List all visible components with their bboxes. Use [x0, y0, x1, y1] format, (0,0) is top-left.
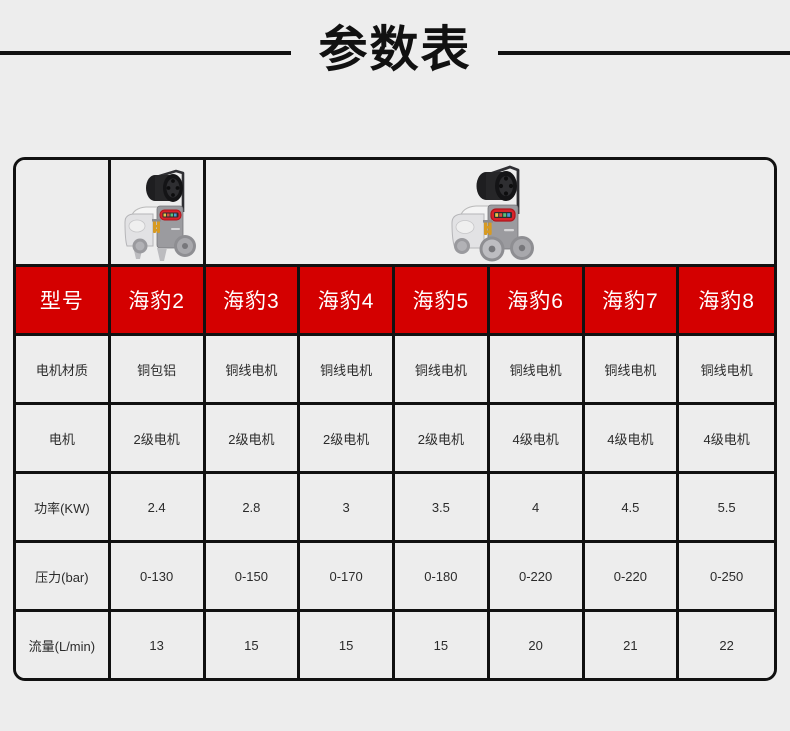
header-cell-seal-8: 海豹8	[679, 267, 774, 336]
cell-power-seal-3: 2.8	[206, 474, 301, 543]
cell-motor-seal-8: 4级电机	[679, 405, 774, 474]
cell-flow-seal-5: 15	[395, 612, 490, 678]
cell-power-seal-2: 2.4	[111, 474, 206, 543]
cell-pressure-seal-4: 0-170	[300, 543, 395, 612]
page-title: 参数表	[0, 14, 790, 86]
cell-power-seal-4: 3	[300, 474, 395, 543]
product-photo-seal-3-to-8-cell	[206, 160, 775, 267]
cell-flow-seal-4: 15	[300, 612, 395, 678]
row-label-power: 功率(KW)	[16, 474, 111, 543]
title-rule-right	[498, 51, 790, 55]
header-cell-seal-7: 海豹7	[585, 267, 680, 336]
cell-pressure-seal-3: 0-150	[206, 543, 301, 612]
header-cell-seal-2: 海豹2	[111, 267, 206, 336]
cell-flow-seal-6: 20	[490, 612, 585, 678]
cell-flow-seal-3: 15	[206, 612, 301, 678]
cell-motor-seal-4: 2级电机	[300, 405, 395, 474]
table-row-motor: 电机 2级电机 2级电机 2级电机 2级电机 4级电机 4级电机 4级电机	[16, 405, 774, 474]
pressure-washer-machine-icon	[113, 164, 201, 264]
header-cell-seal-4: 海豹4	[300, 267, 395, 336]
cell-flow-seal-8: 22	[679, 612, 774, 678]
row-label-motor: 电机	[16, 405, 111, 474]
row-label-motor-material: 电机材质	[16, 336, 111, 405]
cell-power-seal-7: 4.5	[585, 474, 680, 543]
table-row-motor-material: 电机材质 铜包铝 铜线电机 铜线电机 铜线电机 铜线电机 铜线电机 铜线电机	[16, 336, 774, 405]
cell-motor-material-seal-8: 铜线电机	[679, 336, 774, 405]
row-label-pressure: 压力(bar)	[16, 543, 111, 612]
table-row-power: 功率(KW) 2.4 2.8 3 3.5 4 4.5 5.5	[16, 474, 774, 543]
cell-motor-seal-5: 2级电机	[395, 405, 490, 474]
cell-motor-material-seal-3: 铜线电机	[206, 336, 301, 405]
row-label-flow: 流量(L/min)	[16, 612, 111, 678]
cell-motor-seal-7: 4级电机	[585, 405, 680, 474]
cell-motor-material-seal-6: 铜线电机	[490, 336, 585, 405]
cell-motor-seal-6: 4级电机	[490, 405, 585, 474]
specification-table: 型号 海豹2 海豹3 海豹4 海豹5 海豹6 海豹7 海豹8 电机材质 铜包铝 …	[13, 157, 777, 681]
header-cell-model-label: 型号	[16, 267, 111, 336]
header-cell-seal-3: 海豹3	[206, 267, 301, 336]
cell-pressure-seal-6: 0-220	[490, 543, 585, 612]
pressure-washer-machine-icon	[440, 162, 540, 264]
cell-power-seal-8: 5.5	[679, 474, 774, 543]
product-image-row	[16, 160, 774, 267]
cell-flow-seal-7: 21	[585, 612, 680, 678]
table-row-flow: 流量(L/min) 13 15 15 15 20 21 22	[16, 612, 774, 678]
page-header: 参数表	[0, 0, 790, 110]
table-row-pressure: 压力(bar) 0-130 0-150 0-170 0-180 0-220 0-…	[16, 543, 774, 612]
cell-pressure-seal-5: 0-180	[395, 543, 490, 612]
machine-illustration-small	[111, 160, 203, 264]
model-header-row: 型号 海豹2 海豹3 海豹4 海豹5 海豹6 海豹7 海豹8	[16, 267, 774, 336]
cell-motor-seal-3: 2级电机	[206, 405, 301, 474]
cell-pressure-seal-2: 0-130	[111, 543, 206, 612]
image-row-label-cell	[16, 160, 111, 267]
product-photo-seal-2-cell	[111, 160, 206, 267]
cell-motor-material-seal-7: 铜线电机	[585, 336, 680, 405]
cell-motor-material-seal-5: 铜线电机	[395, 336, 490, 405]
cell-flow-seal-2: 13	[111, 612, 206, 678]
cell-motor-seal-2: 2级电机	[111, 405, 206, 474]
cell-motor-material-seal-4: 铜线电机	[300, 336, 395, 405]
cell-pressure-seal-7: 0-220	[585, 543, 680, 612]
cell-motor-material-seal-2: 铜包铝	[111, 336, 206, 405]
header-cell-seal-5: 海豹5	[395, 267, 490, 336]
spec-table-container: 型号 海豹2 海豹3 海豹4 海豹5 海豹6 海豹7 海豹8 电机材质 铜包铝 …	[13, 157, 777, 666]
header-cell-seal-6: 海豹6	[490, 267, 585, 336]
cell-pressure-seal-8: 0-250	[679, 543, 774, 612]
cell-power-seal-6: 4	[490, 474, 585, 543]
cell-power-seal-5: 3.5	[395, 474, 490, 543]
machine-illustration-large	[206, 160, 775, 264]
